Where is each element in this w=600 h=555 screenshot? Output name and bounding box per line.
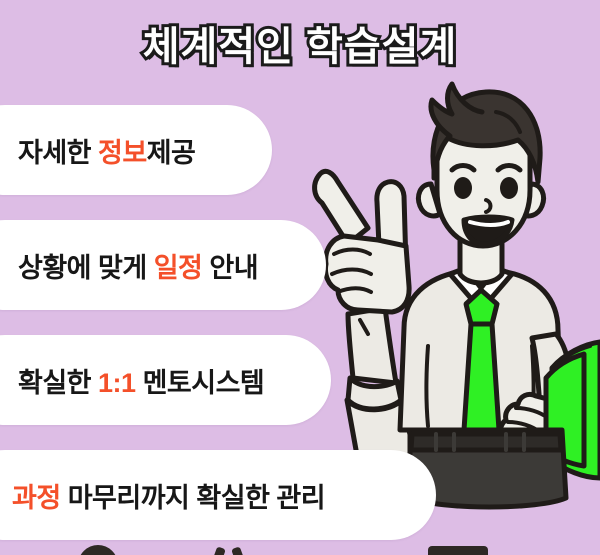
checkmark-icon-stroke-right — [231, 546, 250, 555]
feature-pill-4-label: 과정 마무리까지 확실한 관리 — [0, 476, 355, 515]
feature-pill-4[interactable]: 과정 마무리까지 확실한 관리 — [0, 450, 436, 540]
next-row-icons-partial — [0, 543, 600, 555]
page-title: 체계적인 학습설계 — [0, 14, 600, 72]
circle-icon — [78, 545, 118, 555]
feature-pill-3-highlight: 1:1 — [98, 368, 136, 398]
feature-pill-3-label: 확실한 1:1 멘토시스템 — [0, 361, 294, 400]
feature-pill-2-label: 상황에 맞게 일정 안내 — [0, 246, 288, 285]
rectangle-icon — [428, 546, 488, 555]
feature-pill-4-highlight: 과정 — [12, 483, 61, 513]
feature-pill-2[interactable]: 상황에 맞게 일정 안내 — [0, 220, 326, 310]
poster-canvas: 체계적인 학습설계 — [0, 0, 600, 555]
feature-pill-1-label: 자세한 정보제공 — [0, 131, 225, 170]
feature-pill-1-highlight: 정보 — [98, 138, 147, 168]
feature-pill-3[interactable]: 확실한 1:1 멘토시스템 — [0, 335, 331, 425]
feature-pill-2-highlight: 일정 — [154, 253, 203, 283]
checkmark-icon-stroke-left — [207, 546, 226, 555]
feature-pill-1[interactable]: 자세한 정보제공 — [0, 105, 272, 195]
